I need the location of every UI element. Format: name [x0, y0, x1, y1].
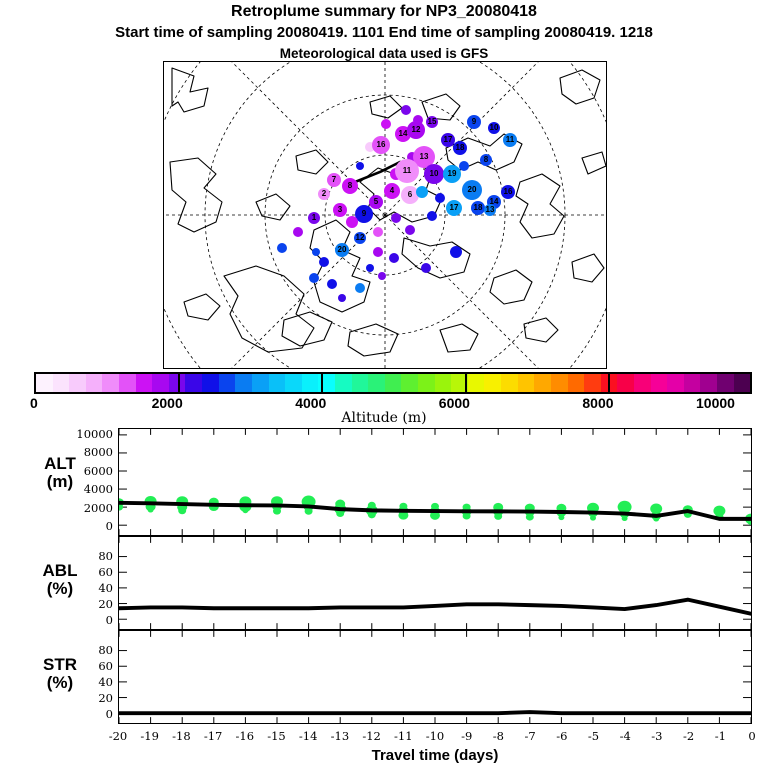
colorbar-segment: [235, 374, 252, 392]
map-trajectory-marker: [416, 186, 428, 198]
colorbar-segment: [202, 374, 219, 392]
x-tick-label: -14: [299, 729, 318, 743]
map-trajectory-marker: [312, 248, 320, 256]
map-trajectory-marker: 15: [426, 116, 438, 128]
map-trajectory-marker: [277, 243, 287, 253]
x-tick-label: -15: [267, 729, 286, 743]
alt-y-axis: 0200040006000800010000: [40, 428, 118, 536]
x-tick-label: -8: [493, 729, 504, 743]
map-trajectory-marker: [389, 253, 399, 263]
map-trajectory-marker: [356, 162, 364, 170]
map-trajectory-marker: [401, 105, 411, 115]
colorbar-segment: [385, 374, 402, 392]
x-tick-label: -3: [651, 729, 662, 743]
map-trajectory-marker: 5: [369, 195, 383, 209]
alt-scatter-marker: [494, 513, 502, 520]
map-trajectory-marker: 7: [327, 173, 341, 187]
map-graticule-and-coastlines: [164, 62, 606, 368]
sampling-time-text: Start time of sampling 20080419. 1101 En…: [0, 24, 768, 41]
map-trajectory-marker: [427, 211, 437, 221]
colorbar-segment: [152, 374, 169, 392]
colorbar-segment: [401, 374, 418, 392]
colorbar-segment: [102, 374, 119, 392]
alt-scatter-marker: [242, 508, 248, 513]
map-trajectory-marker: [421, 263, 431, 273]
map-trajectory-marker: 12: [354, 232, 366, 244]
abl-trend-line: [119, 600, 751, 614]
map-trajectory-marker: 11: [395, 159, 419, 183]
y-tick-label: 40: [98, 581, 118, 595]
alt-panel[interactable]: [118, 428, 752, 536]
abl-y-axis: 020406080: [40, 536, 118, 630]
y-tick-label: 60: [98, 565, 118, 579]
x-tick-label: -11: [394, 729, 413, 743]
x-tick-label: -17: [204, 729, 223, 743]
map-trajectory-marker: [293, 227, 303, 237]
x-tick-label: -16: [236, 729, 255, 743]
colorbar-segment: [568, 374, 585, 392]
colorbar-segment: [335, 374, 352, 392]
map-trajectory-marker: 9: [467, 115, 481, 129]
y-tick-label: 40: [98, 675, 118, 689]
map-trajectory-marker: 16: [372, 136, 390, 154]
alt-scatter-marker: [558, 515, 564, 520]
colorbar-segment: [86, 374, 103, 392]
map-trajectory-marker: 10: [488, 122, 500, 134]
map-trajectory-marker: 13: [484, 204, 496, 216]
colorbar-segment: [734, 374, 751, 392]
y-tick-label: 20: [98, 691, 118, 705]
x-axis-title: Travel time (days): [118, 747, 752, 764]
y-tick-label: 80: [98, 549, 118, 563]
colorbar-tick-label: 4000: [295, 395, 326, 411]
map-trajectory-marker: 20: [335, 243, 349, 257]
map-trajectory-marker: [391, 213, 401, 223]
x-tick-label: -20: [109, 729, 128, 743]
y-tick-label: 80: [98, 643, 118, 657]
map-trajectory-marker: [373, 227, 383, 237]
x-tick-label: -6: [556, 729, 567, 743]
colorbar-segment: [551, 374, 568, 392]
page-title: Retroplume summary for NP3_20080418: [0, 3, 768, 21]
colorbar-title: Altitude (m): [0, 410, 768, 426]
map-trajectory-marker: [346, 216, 358, 228]
colorbar-segment: [269, 374, 286, 392]
map-trajectory-marker: 4: [384, 183, 400, 199]
alt-scatter-marker: [305, 508, 313, 515]
map-trajectory-marker: [327, 279, 337, 289]
x-tick-label: -4: [620, 729, 631, 743]
alt-plot: [119, 429, 751, 535]
colorbar-segment: [435, 374, 452, 392]
x-tick-label: -12: [362, 729, 381, 743]
colorbar-segment: [219, 374, 236, 392]
colorbar-tick-label: 8000: [582, 395, 613, 411]
colorbar-segment: [468, 374, 485, 392]
colorbar-segment: [252, 374, 269, 392]
colorbar-segment: [69, 374, 86, 392]
str-trend-line: [119, 712, 751, 713]
colorbar-segment: [302, 374, 319, 392]
colorbar-segment: [700, 374, 717, 392]
y-tick-label: 0: [106, 707, 118, 721]
map-trajectory-marker: 18: [471, 201, 485, 215]
map-trajectory-marker: [355, 283, 365, 293]
alt-scatter-marker: [526, 514, 534, 521]
str-plot: [119, 631, 751, 723]
y-tick-label: 8000: [84, 445, 118, 459]
map-trajectory-marker: 10: [424, 164, 444, 184]
colorbar-segment: [501, 374, 518, 392]
y-tick-label: 20: [98, 597, 118, 611]
colorbar-segment: [53, 374, 70, 392]
map-trajectory-marker: 1: [308, 212, 320, 224]
colorbar-divider: [321, 372, 323, 394]
map-trajectory-marker: 11: [503, 133, 517, 147]
y-tick-label: 6000: [84, 464, 118, 478]
map-trajectory-marker: 3: [333, 203, 347, 217]
map-trajectory-marker: [373, 247, 383, 257]
colorbar-segment: [584, 374, 601, 392]
abl-plot: [119, 537, 751, 629]
colorbar-segment: [518, 374, 535, 392]
colorbar-segment: [651, 374, 668, 392]
map-trajectory-marker: 8: [480, 154, 492, 166]
str-panel[interactable]: [118, 630, 752, 724]
str-y-axis: 020406080: [40, 630, 118, 724]
abl-panel[interactable]: [118, 536, 752, 630]
map-trajectory-marker: 18: [453, 141, 467, 155]
colorbar-segment: [185, 374, 202, 392]
map-trajectory-marker: [309, 273, 319, 283]
y-tick-label: 0: [106, 519, 118, 533]
colorbar-tick-label: 10000: [696, 395, 735, 411]
map-trajectory-marker: [459, 161, 469, 171]
alt-scatter-marker: [148, 507, 154, 512]
map-trajectory-marker: [435, 193, 445, 203]
map-trajectory-marker: [338, 294, 346, 302]
colorbar-segment: [717, 374, 734, 392]
map-trajectory-marker: [366, 264, 374, 272]
colorbar-segment: [285, 374, 302, 392]
met-data-text: Meteorological data used is GFS: [0, 46, 768, 61]
map-trajectory-marker: 16: [501, 185, 515, 199]
colorbar-segment: [418, 374, 435, 392]
y-tick-label: 10000: [76, 427, 118, 441]
colorbar-segment: [667, 374, 684, 392]
polar-map[interactable]: 1614121311104659321781718159101181920161…: [163, 61, 607, 369]
colorbar: [34, 372, 752, 394]
colorbar-divider: [608, 372, 610, 394]
y-tick-label: 2000: [84, 501, 118, 515]
y-tick-label: 0: [106, 613, 118, 627]
alt-scatter-marker: [590, 515, 596, 520]
x-tick-label: -9: [461, 729, 472, 743]
x-tick-label: -13: [331, 729, 350, 743]
x-tick-label: -18: [172, 729, 191, 743]
colorbar-segment: [136, 374, 153, 392]
colorbar-divider: [465, 372, 467, 394]
alt-scatter-marker: [622, 516, 628, 521]
colorbar-tick-label: 0: [30, 395, 38, 411]
colorbar-segment: [36, 374, 53, 392]
colorbar-segment: [617, 374, 634, 392]
colorbar-segment: [368, 374, 385, 392]
map-trajectory-marker: 8: [342, 178, 358, 194]
alt-scatter-marker: [463, 512, 471, 519]
colorbar-segment: [684, 374, 701, 392]
map-trajectory-marker: 2: [318, 188, 330, 200]
x-tick-label: -19: [140, 729, 159, 743]
colorbar-segment: [484, 374, 501, 392]
x-tick-label: -7: [524, 729, 535, 743]
x-tick-label: -2: [683, 729, 694, 743]
map-trajectory-marker: [405, 225, 415, 235]
map-trajectory-marker: [319, 257, 329, 267]
colorbar-segment: [534, 374, 551, 392]
colorbar-tick-label: 2000: [152, 395, 183, 411]
colorbar-segment: [352, 374, 369, 392]
map-trajectory-marker: 17: [446, 200, 462, 216]
x-tick-label: -1: [715, 729, 726, 743]
alt-scatter-marker: [273, 508, 281, 515]
alt-scatter-marker: [178, 507, 186, 514]
colorbar-tick-label: 6000: [439, 395, 470, 411]
map-trajectory-marker: [450, 246, 462, 258]
colorbar-segment: [634, 374, 651, 392]
x-tick-label: -10: [426, 729, 445, 743]
y-tick-label: 60: [98, 659, 118, 673]
colorbar-divider: [178, 372, 180, 394]
map-trajectory-marker: [381, 119, 391, 129]
y-tick-label: 4000: [84, 482, 118, 496]
map-trajectory-marker: 20: [462, 180, 482, 200]
colorbar-segment: [119, 374, 136, 392]
map-trajectory-marker: [413, 115, 423, 125]
x-tick-label: 0: [748, 729, 755, 743]
x-tick-label: -5: [588, 729, 599, 743]
map-trajectory-marker: [378, 272, 386, 280]
